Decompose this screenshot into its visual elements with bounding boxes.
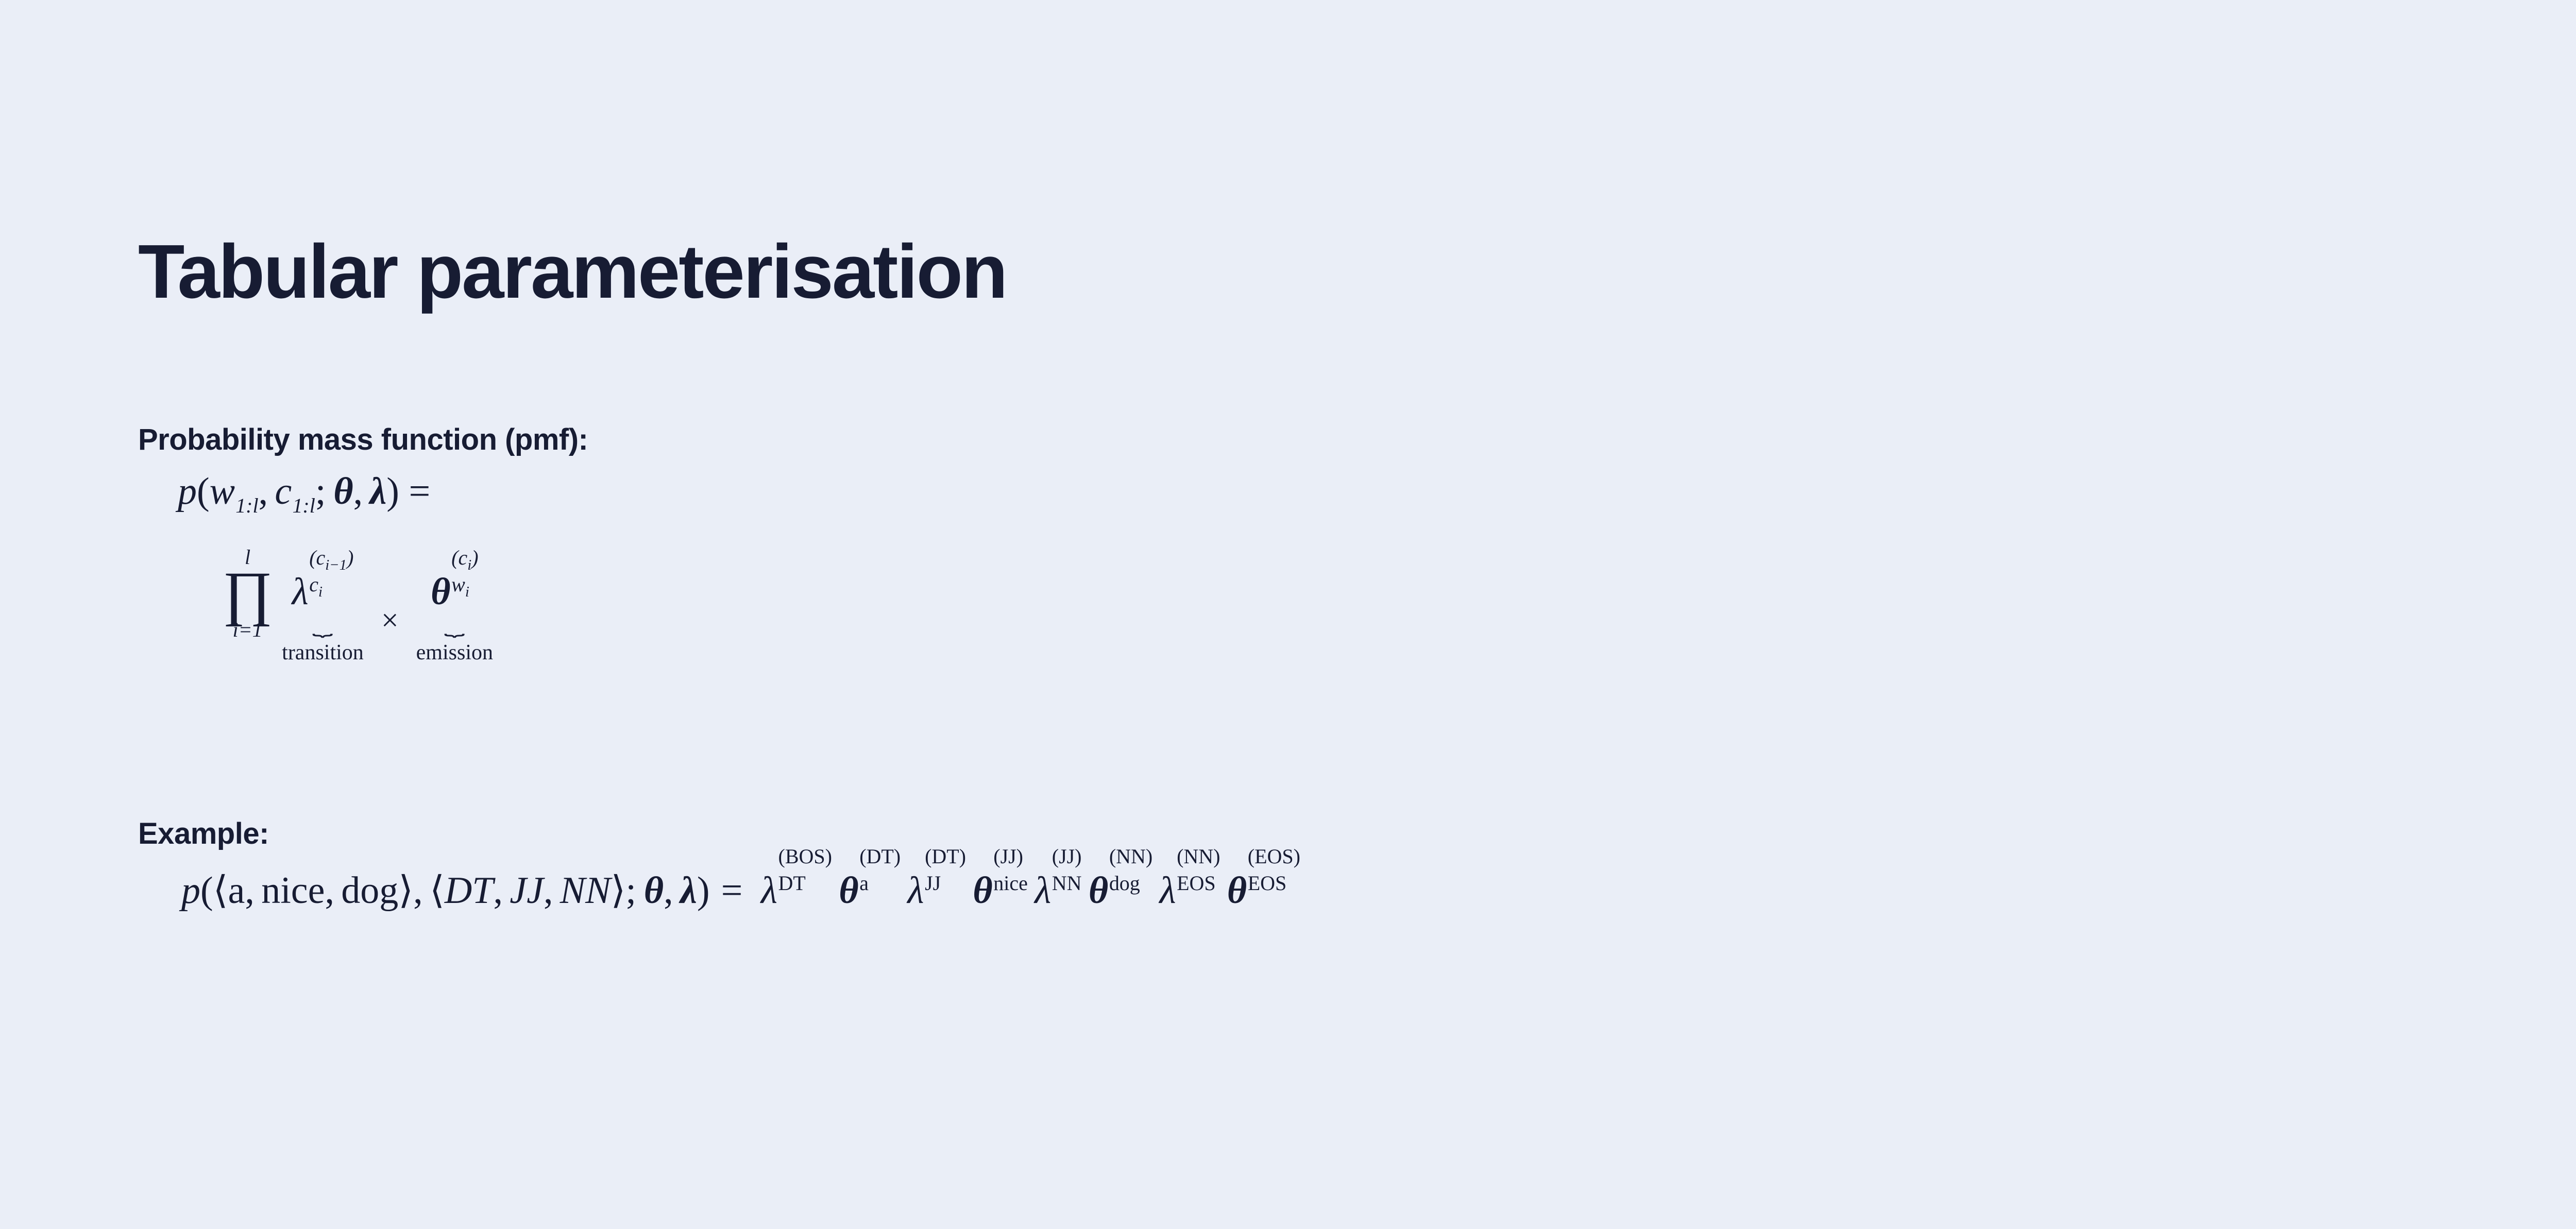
factor-8-superscript: (EOS) bbox=[1248, 846, 1300, 867]
factor-6-superscript: (NN) bbox=[1109, 846, 1153, 867]
factor-5-scripts: (JJ)NN bbox=[1052, 865, 1082, 907]
example-factor-4: θ(JJ)nice bbox=[973, 869, 1028, 912]
factor-1-base: λ bbox=[761, 869, 777, 912]
tag-2: JJ bbox=[510, 869, 544, 912]
transition-superscript: (ci−1) bbox=[309, 548, 353, 568]
pmf-comma-2: , bbox=[353, 470, 370, 513]
words-open-angle: ⟨ bbox=[213, 869, 228, 912]
transition-factor-group: λ(ci−1)ci ⏟ transition bbox=[282, 567, 364, 663]
pmf-c-subscript: 1:l bbox=[292, 493, 315, 518]
factor-6-subscript: dog bbox=[1109, 873, 1153, 894]
word-3: dog bbox=[341, 869, 398, 912]
transition-factor: λ(ci−1)ci bbox=[292, 567, 354, 615]
tag-3: NN bbox=[560, 869, 611, 912]
factor-4-subscript: nice bbox=[993, 873, 1028, 894]
factor-1-subscript: DT bbox=[778, 873, 832, 894]
pmf-comma-1: , bbox=[259, 470, 275, 513]
tag-1: DT bbox=[445, 869, 494, 912]
example-equals-sign: = bbox=[721, 869, 743, 912]
pmf-open-paren: ( bbox=[197, 470, 210, 513]
transition-sup-open: (c bbox=[309, 546, 325, 569]
emission-underbrace-icon: ⏟ bbox=[444, 622, 465, 631]
pmf-p: p bbox=[178, 470, 197, 513]
product-sign-icon: ∏ bbox=[223, 569, 273, 619]
factor-1-superscript: (BOS) bbox=[778, 846, 832, 867]
word-comma-2: , bbox=[325, 869, 341, 912]
example-semicolon: ; bbox=[625, 869, 643, 912]
emission-scripts: (ci)wi bbox=[451, 567, 478, 608]
emission-subscript: wi bbox=[451, 574, 478, 595]
emission-sup-open: (c bbox=[451, 546, 467, 569]
factor-8-base: θ bbox=[1227, 869, 1247, 912]
factor-7-base: λ bbox=[1159, 869, 1176, 912]
tag-comma-1: , bbox=[493, 869, 510, 912]
factor-2-subscript: a bbox=[859, 873, 901, 894]
emission-label: emission bbox=[416, 642, 493, 663]
example-factor-8: θ(EOS)EOS bbox=[1227, 869, 1300, 912]
factor-8-subscript: EOS bbox=[1248, 873, 1300, 894]
factor-3-superscript: (DT) bbox=[925, 846, 966, 867]
words-close-angle: ⟩ bbox=[398, 869, 413, 912]
emission-superscript: (ci) bbox=[451, 548, 478, 568]
emission-sub-base: w bbox=[451, 573, 465, 596]
factor-3-subscript: JJ bbox=[925, 873, 966, 894]
factor-4-base: θ bbox=[973, 869, 992, 912]
emission-sup-sub: i bbox=[467, 557, 471, 573]
pmf-c: c bbox=[275, 470, 292, 513]
factor-5-base: λ bbox=[1035, 869, 1051, 912]
pmf-semicolon: ; bbox=[315, 470, 333, 513]
factor-3-base: λ bbox=[907, 869, 924, 912]
emission-sup-close: ) bbox=[471, 546, 478, 569]
factor-5-subscript: NN bbox=[1052, 873, 1082, 894]
pmf-lambda-vector: λ bbox=[369, 470, 386, 513]
transition-label: transition bbox=[282, 642, 364, 663]
example-factor-7: λ(NN)EOS bbox=[1159, 869, 1220, 912]
example-factor-6: θ(NN)dog bbox=[1089, 869, 1153, 912]
factor-5-superscript: (JJ) bbox=[1052, 846, 1082, 867]
transition-sup-close: ) bbox=[347, 546, 353, 569]
emission-theta: θ bbox=[431, 571, 450, 613]
pmf-w: w bbox=[210, 470, 235, 513]
example-factor-3: λ(DT)JJ bbox=[907, 869, 966, 912]
example-factor-2: θ(DT)a bbox=[839, 869, 901, 912]
factor-4-superscript: (JJ) bbox=[993, 846, 1028, 867]
transition-subscript: ci bbox=[309, 574, 353, 595]
example-caption: Example: bbox=[138, 816, 269, 851]
product-lower-limit: i=1 bbox=[233, 620, 263, 640]
example-equation: p(⟨a,nice,dog⟩,⟨DT,JJ,NN⟩;θ,λ)=λ(BOS)DTθ… bbox=[181, 865, 1300, 913]
pmf-equals-sign: = bbox=[409, 470, 430, 513]
example-open-paren: ( bbox=[200, 869, 213, 912]
emission-factor: θ(ci)wi bbox=[431, 567, 478, 615]
pmf-w-subscript: 1:l bbox=[235, 493, 258, 518]
word-2: nice bbox=[261, 869, 325, 912]
product-operator-group: l ∏ i=1 bbox=[223, 547, 273, 640]
transition-sub-sub: i bbox=[318, 584, 323, 600]
emission-factor-group: θ(ci)wi ⏟ emission bbox=[416, 567, 493, 663]
transition-sub-base: c bbox=[309, 573, 318, 596]
tags-open-angle: ⟨ bbox=[430, 869, 445, 912]
example-factor-1: λ(BOS)DT bbox=[761, 869, 832, 912]
factor-1-scripts: (BOS)DT bbox=[778, 865, 832, 907]
pmf-theta-vector: θ bbox=[333, 470, 353, 513]
slide-canvas: Tabular parameterisation Probability mas… bbox=[0, 0, 2576, 1229]
pmf-product-expression: l ∏ i=1 λ(ci−1)ci ⏟ transition × θ(ci)wi… bbox=[223, 547, 493, 663]
tags-close-angle: ⟩ bbox=[611, 869, 625, 912]
transition-scripts: (ci−1)ci bbox=[309, 567, 353, 608]
factor-6-scripts: (NN)dog bbox=[1109, 865, 1153, 907]
factor-7-scripts: (NN)EOS bbox=[1177, 865, 1220, 907]
pmf-caption: Probability mass function (pmf): bbox=[138, 422, 588, 457]
example-mid-comma: , bbox=[413, 869, 430, 912]
example-p: p bbox=[181, 869, 200, 912]
page-title: Tabular parameterisation bbox=[138, 232, 1006, 312]
factor-2-scripts: (DT)a bbox=[859, 865, 901, 907]
factor-7-superscript: (NN) bbox=[1177, 846, 1220, 867]
factor-2-base: θ bbox=[839, 869, 858, 912]
tag-comma-2: , bbox=[544, 869, 560, 912]
factor-6-base: θ bbox=[1089, 869, 1108, 912]
factor-7-subscript: EOS bbox=[1177, 873, 1220, 894]
transition-sup-sub: i−1 bbox=[325, 557, 347, 573]
example-factor-5: λ(JJ)NN bbox=[1035, 869, 1081, 912]
factor-2-superscript: (DT) bbox=[859, 846, 901, 867]
example-lambda-vector: λ bbox=[680, 869, 697, 912]
word-comma-1: , bbox=[245, 869, 261, 912]
emission-sub-sub: i bbox=[465, 584, 469, 600]
word-1: a bbox=[228, 869, 245, 912]
example-theta-vector: θ bbox=[644, 869, 664, 912]
example-factor-list: λ(BOS)DTθ(DT)aλ(DT)JJθ(JJ)niceλ(JJ)NNθ(N… bbox=[754, 869, 1300, 912]
example-close-paren: ) bbox=[697, 869, 710, 912]
factor-4-scripts: (JJ)nice bbox=[993, 865, 1028, 907]
example-comma: , bbox=[664, 869, 680, 912]
pmf-equation-lhs: p(w1:l,c1:l;θ,λ) = bbox=[178, 470, 430, 514]
transition-lambda: λ bbox=[292, 571, 309, 613]
factor-8-scripts: (EOS)EOS bbox=[1248, 865, 1300, 907]
pmf-close-paren: ) bbox=[386, 470, 399, 513]
factor-3-scripts: (DT)JJ bbox=[925, 865, 966, 907]
transition-underbrace-icon: ⏟ bbox=[312, 622, 333, 631]
times-operator-icon: × bbox=[381, 547, 399, 638]
